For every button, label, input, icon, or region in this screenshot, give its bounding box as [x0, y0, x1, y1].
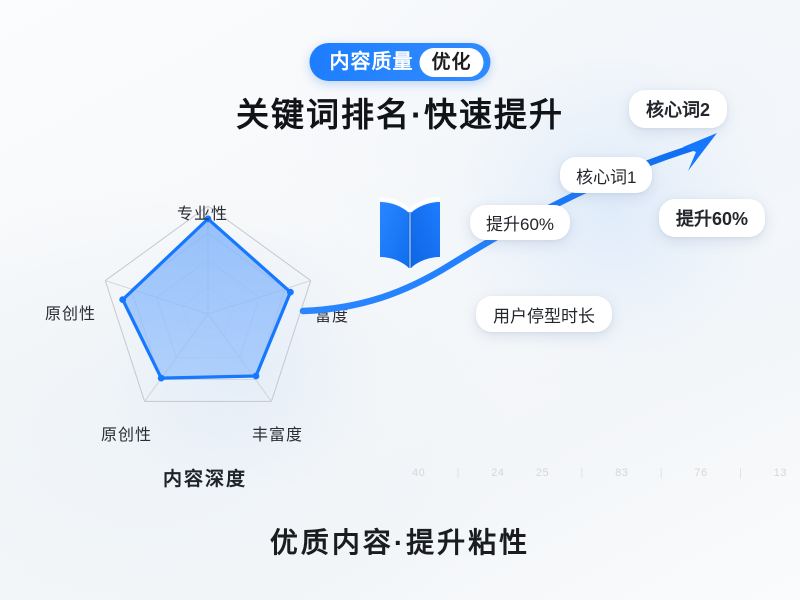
chip-keyword-2[interactable]: 核心词2: [629, 90, 727, 128]
page-subtitle: 优质内容·提升粘性: [0, 521, 800, 561]
ghost-axis-value: 76: [694, 467, 707, 479]
growth-arrow-icon: [683, 133, 717, 171]
radar-axis-label-originality-left: 原创性: [45, 300, 96, 324]
chip-keyword-1[interactable]: 核心词1: [560, 157, 652, 193]
content-quality-badge[interactable]: 内容质量 优化: [309, 43, 490, 81]
chip-improve-right[interactable]: 提升60%: [659, 199, 765, 237]
radar-axis-label-expertise: 专业性: [177, 200, 228, 224]
ghost-axis-tick: |: [580, 467, 583, 479]
radar-data-area: [123, 219, 291, 378]
ghost-axis-tick: |: [457, 467, 460, 479]
ghost-axis-value: 25: [536, 467, 549, 479]
ghost-axis-value: 13: [774, 467, 787, 479]
radar-caption: 内容深度: [163, 464, 247, 491]
ghost-axis-numbers: 40 | 24 25 | 83 | 76 | 13: [412, 462, 787, 484]
ghost-axis-tick: |: [739, 467, 742, 479]
chip-improve-left[interactable]: 提升60%: [470, 205, 570, 240]
radar-axis-label-originality-bottom: 原创性: [101, 421, 152, 445]
badge-main-label: 内容质量: [329, 52, 413, 72]
open-book-icon: [366, 189, 454, 277]
poster-canvas: 内容质量 优化 关键词排名·快速提升 优质内容·提升粘性 内容深度: [0, 0, 800, 600]
badge-pill-label: 优化: [419, 48, 483, 77]
chip-dwell-time[interactable]: 用户停型时长: [476, 296, 612, 332]
ghost-axis-tick: |: [660, 467, 663, 479]
radar-chart: 专业性 富度 丰富度 原创性 原创性: [38, 186, 368, 456]
ghost-axis-value: 24: [491, 467, 504, 479]
radar-axis-label-richness: 丰富度: [252, 421, 303, 445]
ghost-axis-value: 83: [615, 467, 628, 479]
ghost-axis-value: 40: [412, 467, 425, 479]
radar-axis-label-abundance: 富度: [315, 302, 349, 326]
